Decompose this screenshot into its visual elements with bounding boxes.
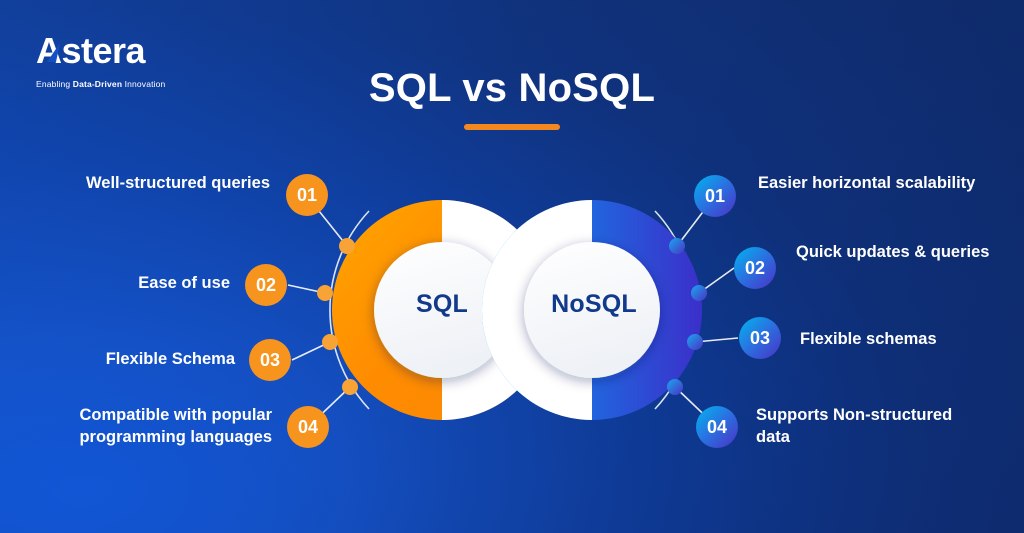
- nosql-label: NoSQL: [518, 290, 670, 319]
- left-badge-03[interactable]: 03: [249, 339, 291, 381]
- right-badge-01[interactable]: 01: [694, 175, 736, 217]
- left-badge-02[interactable]: 02: [245, 264, 287, 306]
- left-feature-03-label: Flexible Schema: [20, 348, 235, 370]
- right-feature-04-label: Supports Non-structured data: [756, 404, 971, 448]
- left-badge-01[interactable]: 01: [286, 174, 328, 216]
- right-feature-01-label: Easier horizontal scalability: [758, 172, 988, 194]
- right-feature-03-label: Flexible schemas: [800, 328, 1000, 350]
- right-badge-03[interactable]: 03: [739, 317, 781, 359]
- right-badge-04[interactable]: 04: [696, 406, 738, 448]
- infographic-canvas: Astera Enabling Data-Driven Innovation S…: [0, 0, 1024, 533]
- left-feature-04-label: Compatible with popular programming lang…: [20, 404, 272, 448]
- left-feature-02-label: Ease of use: [20, 272, 230, 294]
- page-title: SQL vs NoSQL: [0, 66, 1024, 111]
- left-badge-04[interactable]: 04: [287, 406, 329, 448]
- sql-label: SQL: [370, 290, 514, 319]
- right-feature-02-label: Quick updates & queries: [796, 241, 996, 263]
- title-underline: [464, 124, 560, 130]
- right-badge-02[interactable]: 02: [734, 247, 776, 289]
- left-feature-01-label: Well-structured queries: [20, 172, 270, 194]
